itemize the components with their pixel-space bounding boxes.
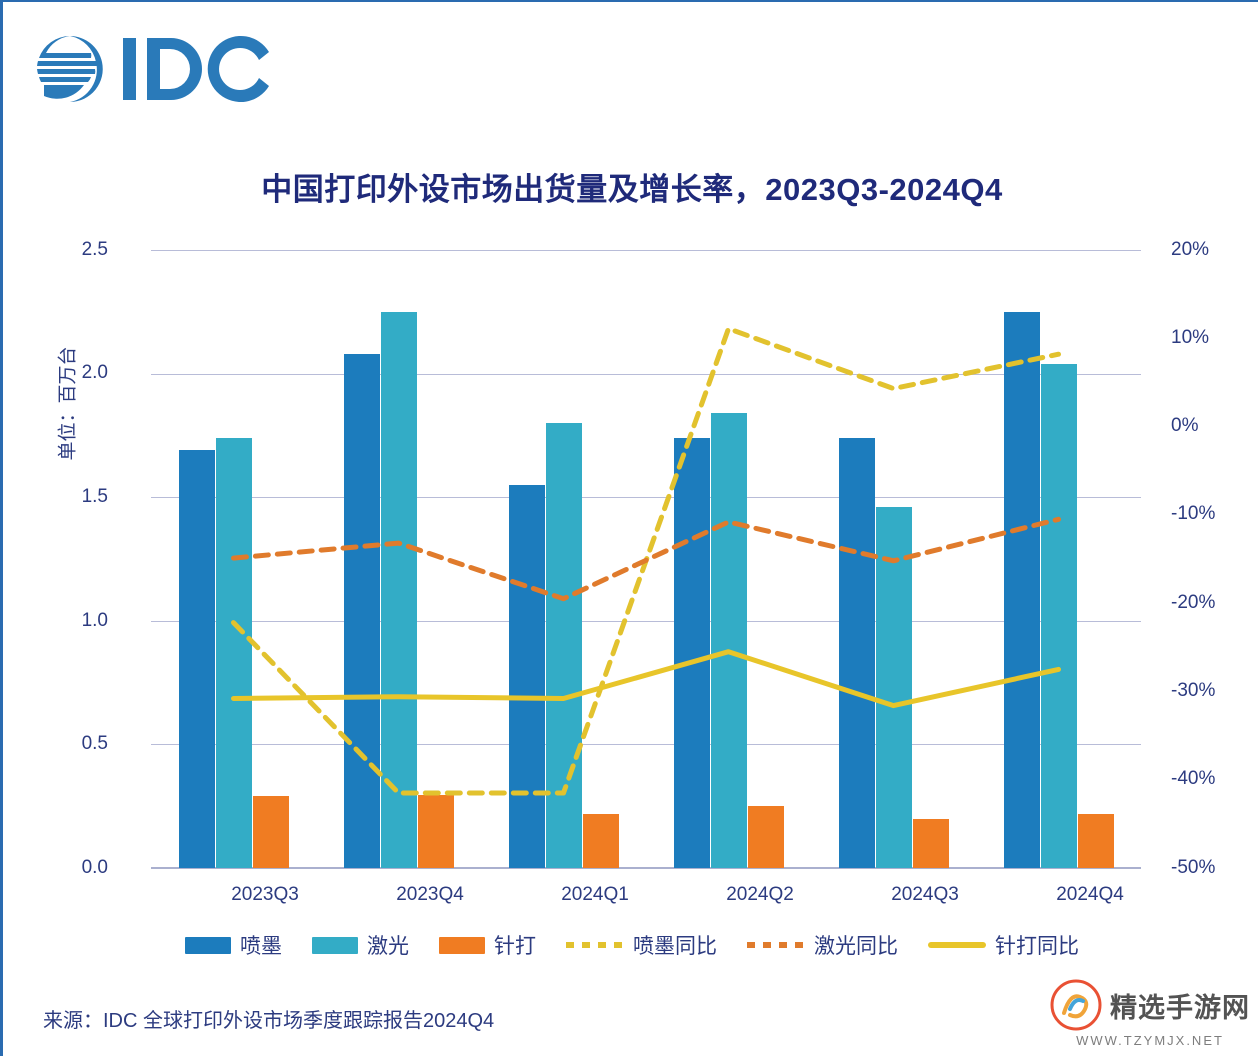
x-tick-2024Q1: 2024Q1 xyxy=(515,884,675,906)
y-tick-right-6: -40% xyxy=(1171,768,1215,790)
y-tick-left-3: 1.0 xyxy=(0,610,108,632)
y-tick-right-7: -50% xyxy=(1171,857,1215,879)
legend-item-喷墨同比[interactable]: 喷墨同比 xyxy=(566,930,717,960)
chart-legend: 喷墨激光针打喷墨同比激光同比针打同比 xyxy=(3,930,1258,960)
watermark: 精选手游网 WWW.TZYMJX.NET xyxy=(1050,979,1250,1048)
watermark-url: WWW.TZYMJX.NET xyxy=(1076,1033,1224,1048)
page-title: 中国打印外设市场出货量及增长率，2023Q3-2024Q4 xyxy=(3,164,1258,209)
y-tick-right-1: 10% xyxy=(1171,327,1209,349)
legend-swatch-激光同比 xyxy=(747,942,805,948)
y-axis-left-label: 单位：百万台 xyxy=(53,431,80,461)
legend-swatch-针打同比 xyxy=(928,942,986,948)
legend-item-激光同比[interactable]: 激光同比 xyxy=(747,930,898,960)
line-针打同比[interactable] xyxy=(234,652,1059,706)
y-tick-left-5: 0.0 xyxy=(0,857,108,879)
watermark-text: 精选手游网 xyxy=(1110,986,1250,1025)
legend-label-针打: 针打 xyxy=(494,930,536,960)
line-series-container xyxy=(151,250,1141,868)
legend-swatch-喷墨同比 xyxy=(566,942,624,948)
legend-label-喷墨: 喷墨 xyxy=(240,930,282,960)
y-tick-left-4: 0.5 xyxy=(0,733,108,755)
y-tick-right-3: -10% xyxy=(1171,503,1215,525)
x-tick-2023Q3: 2023Q3 xyxy=(185,884,345,906)
source-note: 来源：IDC 全球打印外设市场季度跟踪报告2024Q4 xyxy=(43,1004,494,1033)
legend-label-针打同比: 针打同比 xyxy=(995,930,1079,960)
legend-item-激光[interactable]: 激光 xyxy=(312,930,409,960)
idc-logo xyxy=(37,30,277,108)
legend-label-激光: 激光 xyxy=(367,930,409,960)
x-tick-2023Q4: 2023Q4 xyxy=(350,884,510,906)
y-tick-left-2: 1.5 xyxy=(0,486,108,508)
legend-item-针打[interactable]: 针打 xyxy=(439,930,536,960)
watermark-logo-icon xyxy=(1050,979,1102,1031)
plot-area xyxy=(151,250,1141,868)
legend-item-针打同比[interactable]: 针打同比 xyxy=(928,930,1079,960)
x-tick-2024Q2: 2024Q2 xyxy=(680,884,840,906)
y-tick-left-1: 2.0 xyxy=(0,362,108,384)
chart-page: 中国打印外设市场出货量及增长率，2023Q3-2024Q4 单位：百万台 2.5… xyxy=(0,0,1258,1056)
y-tick-right-4: -20% xyxy=(1171,592,1215,614)
legend-swatch-针打 xyxy=(439,937,485,954)
y-tick-left-0: 2.5 xyxy=(0,239,108,261)
legend-label-喷墨同比: 喷墨同比 xyxy=(633,930,717,960)
y-tick-right-2: 0% xyxy=(1171,415,1198,437)
legend-swatch-激光 xyxy=(312,937,358,954)
legend-label-激光同比: 激光同比 xyxy=(814,930,898,960)
x-tick-2024Q4: 2024Q4 xyxy=(1010,884,1170,906)
y-tick-right-5: -30% xyxy=(1171,680,1215,702)
x-tick-2024Q3: 2024Q3 xyxy=(845,884,1005,906)
legend-swatch-喷墨 xyxy=(185,937,231,954)
y-tick-right-0: 20% xyxy=(1171,239,1209,261)
line-激光同比[interactable] xyxy=(234,519,1059,598)
legend-item-喷墨[interactable]: 喷墨 xyxy=(185,930,282,960)
